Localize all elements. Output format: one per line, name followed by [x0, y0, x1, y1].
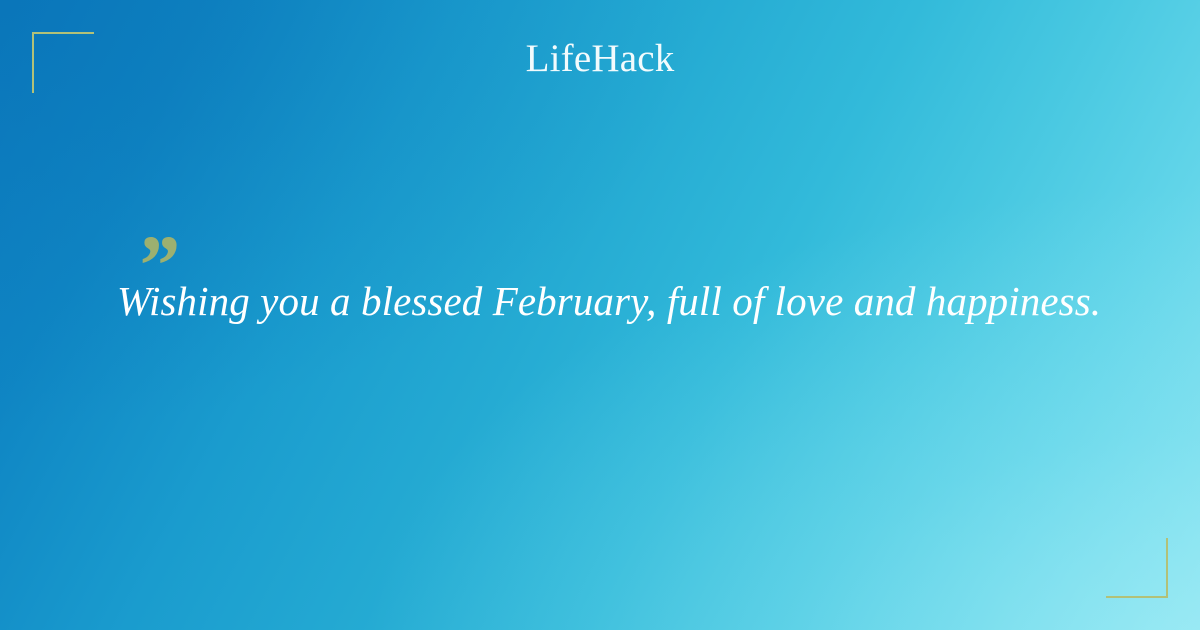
quote-block: ” Wishing you a blessed February, full o… [117, 222, 1117, 326]
card-content-layer: LifeHack ” Wishing you a blessed Februar… [0, 0, 1200, 630]
bracket-horizontal-segment [32, 32, 94, 34]
bracket-vertical-segment [1166, 538, 1168, 598]
bracket-horizontal-segment [1106, 596, 1168, 598]
quote-text: Wishing you a blessed February, full of … [117, 276, 1117, 326]
corner-bracket-bottom-right-icon [1106, 538, 1168, 598]
quote-card: LifeHack ” Wishing you a blessed Februar… [0, 0, 1200, 630]
brand-logo: LifeHack [0, 38, 1200, 81]
quotation-mark-icon: ” [135, 222, 1117, 270]
